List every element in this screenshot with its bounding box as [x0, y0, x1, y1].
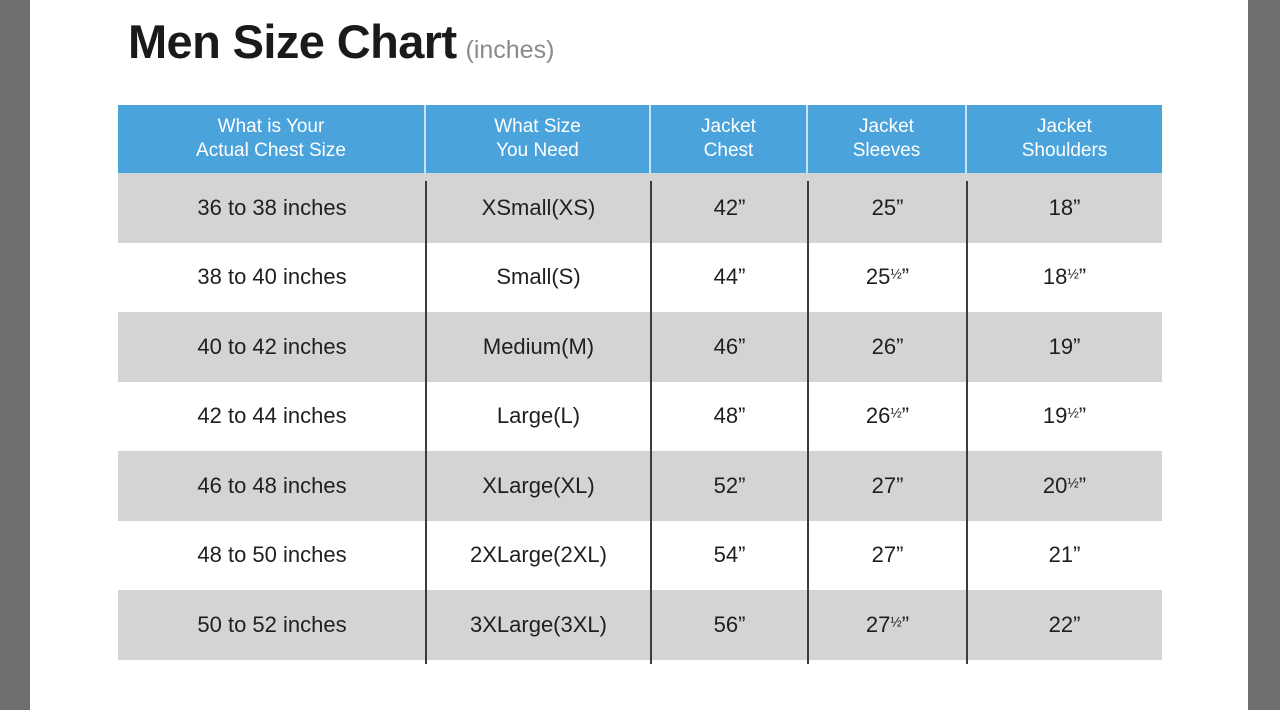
table-cell: 25½” [808, 243, 967, 313]
cell-value: 27” [872, 473, 904, 499]
table-cell: 2XLarge(2XL) [426, 521, 651, 591]
cell-value: 26½” [866, 403, 909, 429]
table-cell: 26” [808, 312, 967, 382]
table-cell: 27½” [808, 590, 967, 660]
column-header-line1: What Size [494, 115, 581, 139]
cell-value: XLarge(XL) [482, 473, 595, 499]
table-cell: 46” [651, 312, 808, 382]
table-cell: 50 to 52 inches [118, 590, 426, 660]
cell-value: Large(L) [497, 403, 580, 429]
letterbox-bar-left [0, 0, 30, 710]
column-header-jacket-sleeves: Jacket Sleeves [808, 105, 967, 173]
table-cell: 27” [808, 451, 967, 521]
table-cell: 54” [651, 521, 808, 591]
table-cell: 42 to 44 inches [118, 382, 426, 452]
column-header-line2: Shoulders [1022, 139, 1108, 163]
cell-value: XSmall(XS) [482, 195, 596, 221]
column-header-line2: Chest [704, 139, 754, 163]
column-divider [966, 181, 968, 664]
column-header-line1: What is Your [218, 115, 325, 139]
cell-value: 40 to 42 inches [197, 334, 346, 360]
page-title-main: Men Size Chart [128, 18, 457, 65]
table-cell: 19” [967, 312, 1162, 382]
table-cell: 27” [808, 521, 967, 591]
size-chart-table: What is Your Actual Chest Size What Size… [118, 105, 1162, 660]
page-title-unit: (inches) [466, 38, 555, 63]
column-header-line1: Jacket [1037, 115, 1092, 139]
column-header-line2: You Need [496, 139, 579, 163]
chart-stage: Men Size Chart (inches) What is Your Act… [30, 0, 1248, 710]
table-cell: 22” [967, 590, 1162, 660]
table-cell: 42” [651, 173, 808, 243]
cell-value: 52” [714, 473, 746, 499]
letterbox-bar-right [1248, 0, 1280, 710]
column-header-line1: Jacket [859, 115, 914, 139]
column-header-jacket-chest: Jacket Chest [651, 105, 808, 173]
cell-value: 18” [1049, 195, 1081, 221]
cell-value: 27½” [866, 612, 909, 638]
table-row: 46 to 48 inchesXLarge(XL)52”27”20½” [118, 451, 1162, 521]
cell-value: 42 to 44 inches [197, 403, 346, 429]
cell-value: 46 to 48 inches [197, 473, 346, 499]
table-cell: 18” [967, 173, 1162, 243]
table-cell: 18½” [967, 243, 1162, 313]
column-divider [807, 181, 809, 664]
table-cell: Small(S) [426, 243, 651, 313]
table-cell: Medium(M) [426, 312, 651, 382]
cell-value: 48” [714, 403, 746, 429]
page-title: Men Size Chart (inches) [128, 18, 554, 65]
table-header-row: What is Your Actual Chest Size What Size… [118, 105, 1162, 173]
table-cell: 44” [651, 243, 808, 313]
column-divider [650, 181, 652, 664]
cell-value: 36 to 38 inches [197, 195, 346, 221]
column-divider [425, 181, 427, 664]
column-header-size-you-need: What Size You Need [426, 105, 651, 173]
cell-value: 20½” [1043, 473, 1086, 499]
table-body: 36 to 38 inchesXSmall(XS)42”25”18”38 to … [118, 173, 1162, 660]
cell-value: 25” [872, 195, 904, 221]
table-cell: 25” [808, 173, 967, 243]
table-cell: 46 to 48 inches [118, 451, 426, 521]
table-row: 36 to 38 inchesXSmall(XS)42”25”18” [118, 173, 1162, 243]
column-header-line2: Sleeves [853, 139, 921, 163]
cell-value: 21” [1049, 542, 1081, 568]
table-cell: 26½” [808, 382, 967, 452]
table-cell: XLarge(XL) [426, 451, 651, 521]
table-cell: 48 to 50 inches [118, 521, 426, 591]
table-cell: 21” [967, 521, 1162, 591]
cell-value: 44” [714, 264, 746, 290]
table-cell: 40 to 42 inches [118, 312, 426, 382]
cell-value: 3XLarge(3XL) [470, 612, 607, 638]
cell-value: 46” [714, 334, 746, 360]
cell-value: 27” [872, 542, 904, 568]
column-header-line2: Actual Chest Size [196, 139, 346, 163]
cell-value: 54” [714, 542, 746, 568]
cell-value: 22” [1049, 612, 1081, 638]
cell-value: 19” [1049, 334, 1081, 360]
cell-value: 50 to 52 inches [197, 612, 346, 638]
table-cell: 19½” [967, 382, 1162, 452]
column-header-jacket-shoulders: Jacket Shoulders [967, 105, 1162, 173]
cell-value: 2XLarge(2XL) [470, 542, 607, 568]
table-cell: 20½” [967, 451, 1162, 521]
cell-value: 26” [872, 334, 904, 360]
column-header-line1: Jacket [701, 115, 756, 139]
cell-value: 18½” [1043, 264, 1086, 290]
table-cell: XSmall(XS) [426, 173, 651, 243]
cell-value: 42” [714, 195, 746, 221]
cell-value: 48 to 50 inches [197, 542, 346, 568]
cell-value: 25½” [866, 264, 909, 290]
table-cell: 56” [651, 590, 808, 660]
table-cell: 52” [651, 451, 808, 521]
table-cell: 38 to 40 inches [118, 243, 426, 313]
cell-value: Small(S) [496, 264, 580, 290]
column-header-actual-chest-size: What is Your Actual Chest Size [118, 105, 426, 173]
cell-value: Medium(M) [483, 334, 594, 360]
table-cell: Large(L) [426, 382, 651, 452]
cell-value: 38 to 40 inches [197, 264, 346, 290]
cell-value: 56” [714, 612, 746, 638]
table-row: 48 to 50 inches2XLarge(2XL)54”27”21” [118, 521, 1162, 591]
cell-value: 19½” [1043, 403, 1086, 429]
table-row: 50 to 52 inches3XLarge(3XL)56”27½”22” [118, 590, 1162, 660]
table-row: 42 to 44 inchesLarge(L)48”26½”19½” [118, 382, 1162, 452]
table-cell: 48” [651, 382, 808, 452]
table-cell: 3XLarge(3XL) [426, 590, 651, 660]
table-row: 38 to 40 inchesSmall(S)44”25½”18½” [118, 243, 1162, 313]
table-cell: 36 to 38 inches [118, 173, 426, 243]
table-row: 40 to 42 inchesMedium(M)46”26”19” [118, 312, 1162, 382]
